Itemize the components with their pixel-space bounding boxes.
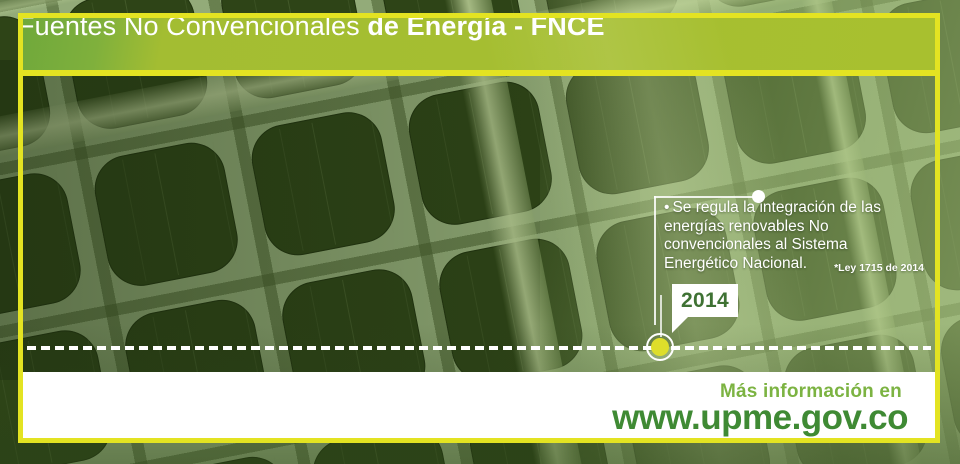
year-bubble-stem [660, 295, 662, 337]
infographic-banner: 2014 •Se regula la integración de las en… [0, 0, 960, 464]
timeline-marker-dot[interactable] [651, 338, 669, 356]
year-bubble-tail-icon [672, 317, 688, 333]
footer-website-url[interactable]: www.upme.gov.co [612, 398, 908, 438]
year-bubble[interactable]: 2014 [672, 284, 738, 317]
page-title-light: Fuentes No Convencionales [18, 11, 367, 41]
year-label: 2014 [672, 284, 738, 317]
timeline-dashed-line [27, 346, 931, 350]
callout-bracket-side [654, 196, 656, 325]
page-title-bold: de Energía - FNCE [367, 11, 604, 41]
page-title: Fuentes No Convencionales de Energía - F… [18, 11, 605, 42]
callout-bracket-top [654, 196, 760, 198]
callout-law-reference: *Ley 1715 de 2014 [664, 262, 924, 274]
header-underline [18, 70, 940, 76]
callout-description-text: Se regula la integración de las energías… [664, 199, 881, 272]
bullet-icon: • [664, 199, 669, 216]
